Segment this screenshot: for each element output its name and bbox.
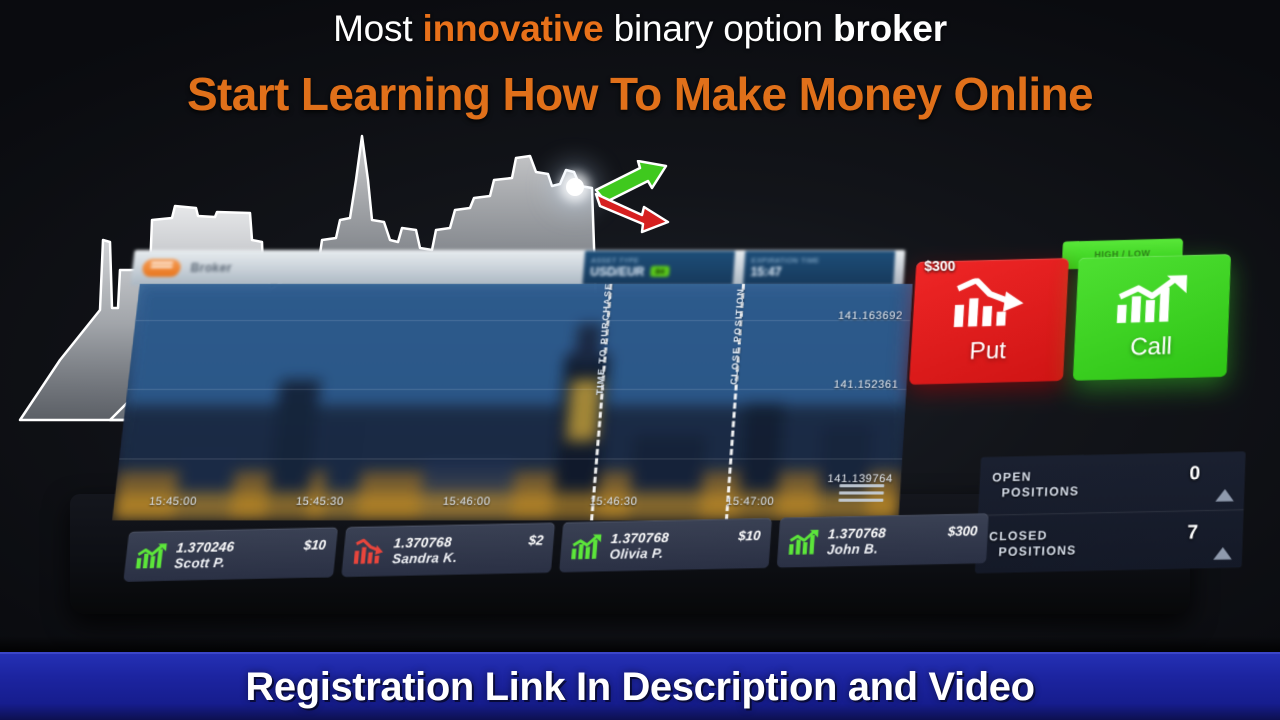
closed-positions-line2: POSITIONS [988, 542, 1077, 560]
gridline [127, 389, 906, 390]
trade-amount: $10 [303, 537, 327, 553]
time-tick: 15:46:00 [442, 496, 491, 508]
hamburger-menu-icon[interactable] [838, 484, 884, 506]
time-axis: 15:45:00 15:45:30 15:46:00 15:46:30 15:4… [113, 496, 900, 515]
chart-up-icon [788, 528, 821, 556]
put-button[interactable]: Put [909, 258, 1069, 385]
trader-name: Olivia P. [609, 543, 760, 562]
chart-down-icon [353, 538, 386, 566]
trade-amount: $300 [948, 523, 978, 539]
headline-block: Most innovative binary option broker Sta… [0, 0, 1280, 125]
trader-name: John B. [827, 538, 978, 557]
payout-badge: 84 [650, 266, 670, 277]
expiry-label: EXPIRATION TIME [751, 257, 889, 264]
promo-stage: Most innovative binary option broker Sta… [0, 0, 1280, 720]
call-label: Call [1130, 332, 1173, 361]
chevron-up-icon[interactable] [1215, 489, 1234, 502]
open-positions-line2: POSITIONS [991, 484, 1080, 501]
chart-up-icon [1115, 272, 1192, 329]
orange-pill-logo-icon [141, 259, 181, 277]
gridline [135, 320, 910, 321]
trader-name: Scott P. [174, 552, 326, 571]
list-item[interactable]: 1.370768 $10 Olivia P. [559, 518, 772, 572]
headline-secondary: Start Learning How To Make Money Online [0, 63, 1280, 125]
time-tick: 15:45:30 [295, 496, 344, 508]
green-up-arrow-icon [596, 161, 666, 202]
registration-banner[interactable]: Registration Link In Description and Vid… [0, 652, 1280, 720]
headline-part-2: binary option [604, 8, 833, 49]
recent-trades-list: 1.370246 $10 Scott P. [123, 513, 988, 581]
trade-price: 1.370768 [610, 529, 669, 546]
chart-up-icon [135, 542, 169, 570]
headline-part-1: Most [333, 8, 422, 49]
price-tick: 141.152361 [833, 379, 899, 391]
list-item[interactable]: 1.370768 $2 Sandra K. [341, 523, 555, 577]
price-tick: 141.163692 [838, 310, 903, 322]
put-label: Put [969, 336, 1007, 365]
banner-shadow [0, 636, 1280, 652]
positions-panel: OPEN POSITIONS 0 CLOSED POSITIONS 7 [975, 452, 1246, 574]
time-tick: 15:45:00 [148, 496, 197, 508]
list-item[interactable]: 1.370768 $300 John B. [777, 513, 989, 567]
expiry-value: 15:47 [750, 264, 782, 278]
trade-amount-label: $300 [924, 258, 955, 274]
platform-screen: Broker ASSET TYPE USD/EUR 84 EXPIRATION … [44, 236, 1213, 572]
headline-primary: Most innovative binary option broker [0, 0, 1280, 57]
open-positions-count: 0 [1189, 463, 1201, 486]
asset-value: USD/EUR [590, 264, 645, 278]
list-item[interactable]: 1.370246 $10 Scott P. [123, 527, 338, 582]
brand-label: Broker [190, 261, 233, 275]
trade-amount: $2 [528, 532, 544, 548]
time-tick: 15:47:00 [726, 496, 775, 508]
headline-highlight: innovative [423, 8, 604, 49]
red-down-arrow-icon [596, 194, 668, 232]
trade-price: 1.370246 [175, 539, 235, 556]
registration-banner-text: Registration Link In Description and Vid… [245, 665, 1034, 710]
trade-amount: $10 [738, 528, 761, 544]
glow-dot-icon [566, 178, 584, 196]
gridline [119, 458, 902, 459]
chart-down-icon [951, 276, 1028, 333]
trader-name: Sandra K. [391, 548, 542, 567]
call-button[interactable]: Call [1073, 254, 1231, 381]
open-positions-label: OPEN POSITIONS [991, 468, 1080, 501]
chevron-up-icon[interactable] [1213, 547, 1232, 560]
chart-up-icon [570, 533, 603, 561]
expiry-selector[interactable]: EXPIRATION TIME 15:47 [743, 251, 896, 285]
asset-label: ASSET TYPE [591, 257, 729, 264]
asset-selector[interactable]: ASSET TYPE USD/EUR 84 [582, 251, 735, 285]
headline-bold: broker [833, 8, 947, 49]
open-positions-row[interactable]: OPEN POSITIONS 0 [978, 452, 1246, 515]
closed-positions-row[interactable]: CLOSED POSITIONS 7 [975, 509, 1244, 573]
trade-price: 1.370768 [828, 525, 887, 542]
trade-price: 1.370768 [393, 534, 453, 551]
platform-toolbar: Broker ASSET TYPE USD/EUR 84 EXPIRATION … [130, 250, 905, 286]
direction-arrows [592, 160, 672, 234]
time-tick: 15:46:30 [589, 496, 638, 508]
closed-positions-label: CLOSED POSITIONS [988, 527, 1078, 560]
trading-platform: Broker ASSET TYPE USD/EUR 84 EXPIRATION … [62, 236, 1202, 616]
price-chart[interactable]: 141.163692 141.152361 141.139764 TIME TO… [112, 284, 913, 521]
closed-positions-count: 7 [1187, 522, 1199, 545]
